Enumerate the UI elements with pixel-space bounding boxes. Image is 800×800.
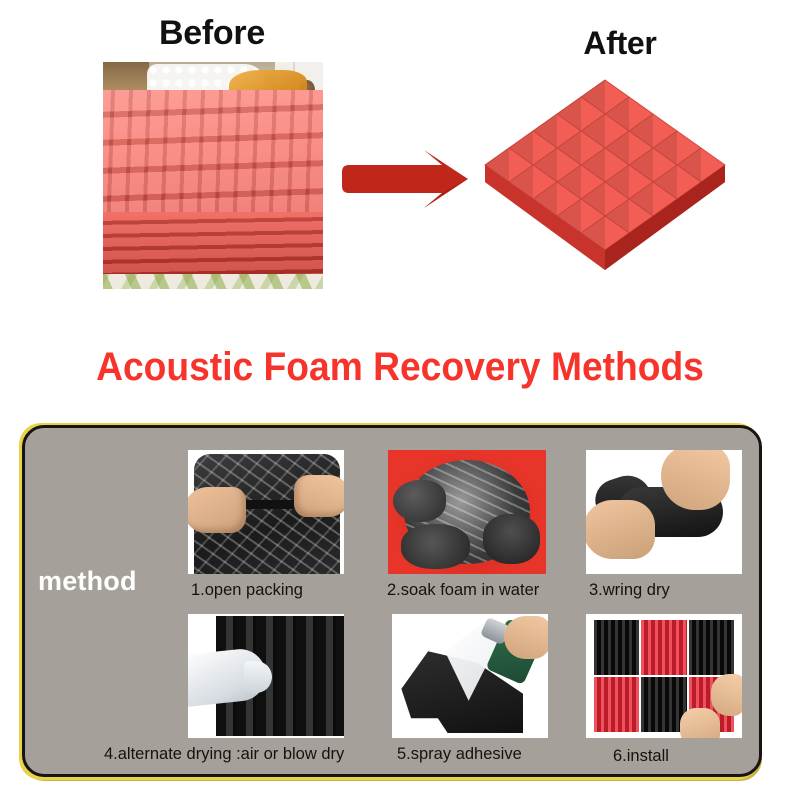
step-2-caption: 2.soak foam in water bbox=[387, 581, 539, 600]
step-1-image bbox=[188, 450, 344, 574]
product-infographic: Before After bbox=[0, 0, 800, 800]
step-3-caption: 3.wring dry bbox=[589, 581, 670, 600]
before-label: Before bbox=[152, 14, 272, 53]
spraying-hand-shape bbox=[504, 616, 548, 658]
page-title: Acoustic Foam Recovery Methods bbox=[28, 345, 772, 390]
right-hand-shape bbox=[294, 475, 344, 517]
left-hand-shape bbox=[188, 487, 246, 533]
step-5-image bbox=[392, 614, 548, 738]
installing-hand-shape bbox=[680, 708, 721, 738]
soaking-foam-shape bbox=[393, 480, 447, 522]
foam-tile bbox=[689, 620, 734, 675]
lower-hand-shape bbox=[586, 500, 655, 560]
installing-hand-shape bbox=[711, 674, 742, 716]
step-6-image bbox=[586, 614, 742, 738]
step-1-caption: 1.open packing bbox=[191, 581, 303, 600]
step-4-caption: 4.alternate drying :air or blow dry bbox=[104, 745, 344, 764]
step-5-caption: 5.spray adhesive bbox=[397, 745, 522, 764]
step-4-image bbox=[188, 614, 344, 738]
foam-tile bbox=[641, 620, 686, 675]
step-6-caption: 6.install bbox=[613, 747, 669, 766]
compressed-foam-stack-lower bbox=[103, 212, 323, 274]
step-2-image bbox=[388, 450, 546, 574]
soaking-foam-shape bbox=[483, 514, 540, 564]
after-label: After bbox=[565, 25, 675, 62]
foam-tile bbox=[594, 620, 639, 675]
upper-hand-shape bbox=[661, 450, 730, 510]
soaking-foam-shape bbox=[401, 524, 471, 569]
after-photo bbox=[455, 70, 755, 300]
method-label: method bbox=[38, 566, 137, 597]
step-3-image bbox=[586, 450, 742, 574]
foam-tile bbox=[594, 677, 639, 732]
before-photo bbox=[103, 62, 323, 289]
